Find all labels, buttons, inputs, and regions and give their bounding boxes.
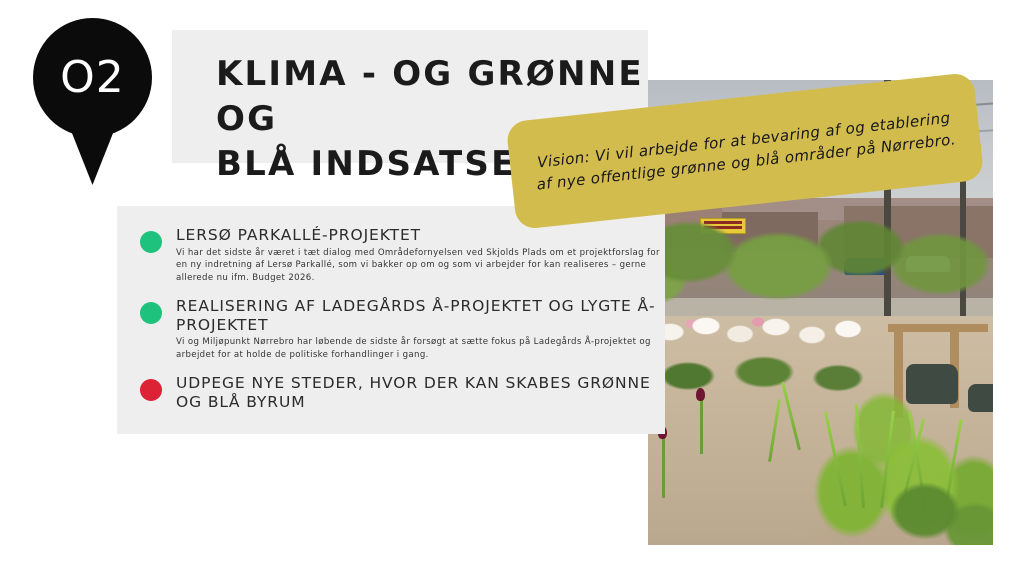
- photo-tulip-stem-2: [662, 436, 665, 498]
- photo-purple-tulip-1: [696, 388, 705, 401]
- bullet-body: Vi og Miljøpunkt Nørrebro har løbende de…: [176, 336, 660, 361]
- bullet-heading: Realisering af Ladegårds Å-projektet og …: [176, 297, 660, 334]
- section-number-label: O2: [33, 18, 152, 137]
- vision-text: Vision: Vi vil arbejde for at bevaring a…: [509, 103, 981, 198]
- section-number-pin: O2: [33, 18, 152, 186]
- list-item: Lersø Parkallé-projektet Vi har det sids…: [140, 226, 660, 284]
- bullet-dot-icon: [140, 231, 162, 253]
- bullet-body: Vi har det sidste år været i tæt dialog …: [176, 247, 660, 284]
- photo-tree-canopy: [648, 192, 993, 322]
- bullet-heading: Udpege nye steder, hvor der kan skabes g…: [176, 374, 660, 411]
- list-item: Udpege nye steder, hvor der kan skabes g…: [140, 374, 660, 411]
- list-item: Realisering af Ladegårds Å-projektet og …: [140, 297, 660, 361]
- bullet-dot-icon: [140, 379, 162, 401]
- slide-canvas: Klima - og grønne og blå indsatser O2 Le…: [0, 0, 1024, 576]
- bullet-dot-icon: [140, 302, 162, 324]
- bullet-list: Lersø Parkallé-projektet Vi har det sids…: [140, 226, 660, 424]
- photo-bush: [885, 463, 993, 545]
- bullet-heading: Lersø Parkallé-projektet: [176, 226, 660, 245]
- photo-wood-rail: [888, 324, 988, 332]
- photo-tulip-stem-1: [700, 398, 703, 454]
